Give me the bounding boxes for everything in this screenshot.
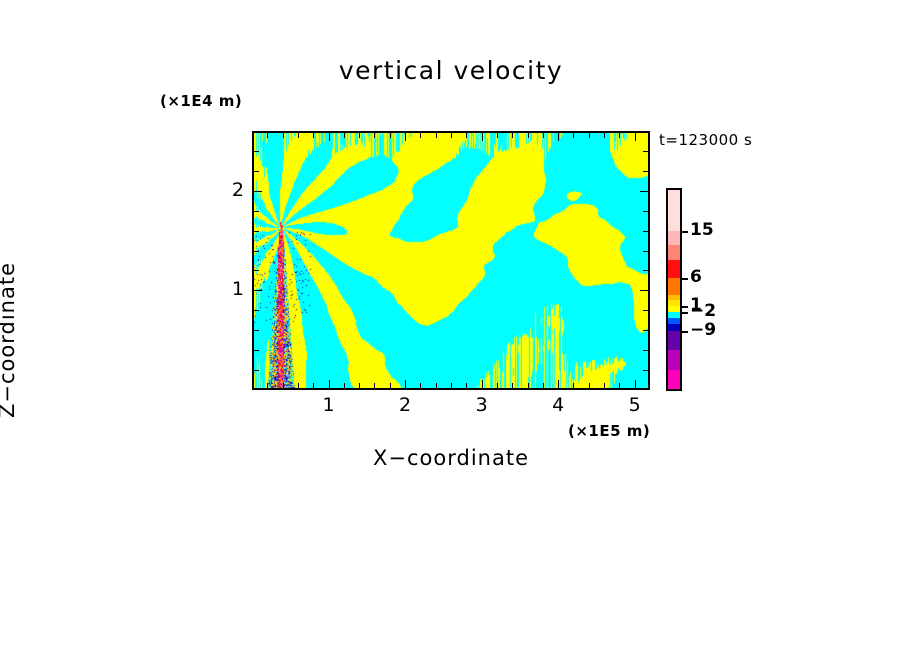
axis-tick (329, 380, 330, 388)
colorbar-band (668, 331, 680, 350)
colorbar-tick (682, 278, 688, 280)
colorbar-band (668, 260, 680, 278)
axis-tick (254, 310, 259, 311)
x-tick-label: 2 (390, 394, 420, 416)
axis-tick (643, 151, 648, 152)
axis-tick (643, 211, 648, 212)
axis-tick (543, 133, 544, 138)
colorbar-scale (666, 188, 682, 391)
x-axis-unit-label: (×1E5 m) (568, 422, 650, 440)
colorbar-tick (682, 312, 688, 314)
axis-tick (635, 380, 636, 388)
axis-tick (267, 383, 268, 388)
axis-tick (254, 211, 259, 212)
axis-tick (604, 133, 605, 138)
axis-tick (344, 383, 345, 388)
axis-tick (482, 380, 483, 388)
axis-tick (254, 251, 259, 252)
axis-tick (313, 133, 314, 138)
colorbar-band (668, 190, 680, 231)
y-tick-label: 2 (222, 179, 244, 201)
axis-tick (451, 383, 452, 388)
axis-tick (466, 383, 467, 388)
y-tick-label: 1 (222, 278, 244, 300)
x-axis-title: X−coordinate (252, 446, 650, 470)
axis-tick (528, 133, 529, 138)
axis-tick (573, 383, 574, 388)
colorbar-tick (682, 331, 688, 333)
axis-tick (254, 151, 259, 152)
axis-tick (528, 383, 529, 388)
axis-tick (643, 310, 648, 311)
vertical-velocity-field (254, 133, 650, 390)
axis-tick (254, 270, 259, 271)
axis-tick (640, 191, 648, 192)
axis-tick (619, 383, 620, 388)
axis-tick (558, 380, 559, 388)
colorbar-tick (682, 306, 688, 308)
colorbar-band (668, 231, 680, 245)
contour-plot-area (252, 131, 650, 390)
axis-tick (635, 133, 636, 141)
axis-tick (254, 191, 262, 192)
axis-tick (558, 133, 559, 141)
axis-tick (619, 133, 620, 138)
colorbar-tick-label: −2 (690, 301, 716, 321)
axis-tick (543, 383, 544, 388)
axis-tick (604, 383, 605, 388)
axis-tick (405, 380, 406, 388)
axis-tick (313, 383, 314, 388)
axis-tick (329, 133, 330, 141)
axis-tick (254, 330, 259, 331)
axis-tick (420, 383, 421, 388)
y-axis-unit-label: (×1E4 m) (160, 92, 242, 110)
axis-tick (254, 350, 259, 351)
axis-tick (451, 133, 452, 138)
colorbar-band (668, 350, 680, 369)
axis-tick (254, 370, 259, 371)
axis-tick (267, 133, 268, 138)
axis-tick (482, 133, 483, 141)
axis-tick (497, 133, 498, 138)
axis-tick (254, 290, 262, 291)
axis-tick (359, 133, 360, 138)
axis-tick (643, 251, 648, 252)
axis-tick (643, 270, 648, 271)
axis-tick (436, 133, 437, 138)
time-annotation: t=123000 s (659, 131, 752, 149)
colorbar-tick-label: −9 (690, 320, 716, 340)
axis-tick (640, 290, 648, 291)
axis-tick (589, 383, 590, 388)
axis-tick (420, 133, 421, 138)
axis-tick (643, 350, 648, 351)
axis-tick (390, 133, 391, 138)
axis-tick (254, 171, 259, 172)
axis-tick (283, 383, 284, 388)
axis-tick (512, 133, 513, 138)
axis-tick (643, 231, 648, 232)
axis-tick (405, 133, 406, 141)
axis-tick (359, 383, 360, 388)
axis-tick (643, 330, 648, 331)
axis-tick (589, 133, 590, 138)
axis-tick (643, 370, 648, 371)
axis-tick (466, 133, 467, 138)
x-tick-label: 4 (543, 394, 573, 416)
axis-tick (374, 133, 375, 138)
axis-tick (512, 383, 513, 388)
figure-canvas: vertical velocity (×1E4 m) (×1E5 m) t=12… (0, 0, 904, 654)
axis-tick (344, 133, 345, 138)
axis-tick (254, 231, 259, 232)
axis-tick (436, 383, 437, 388)
axis-tick (497, 383, 498, 388)
colorbar-band (668, 324, 680, 331)
x-tick-label: 1 (314, 394, 344, 416)
axis-tick (298, 133, 299, 138)
axis-tick (283, 133, 284, 138)
axis-tick (573, 133, 574, 138)
axis-tick (374, 383, 375, 388)
y-axis-title: Z−coordinate (0, 190, 19, 490)
colorbar-tick-label: 6 (690, 267, 702, 287)
colorbar-band (668, 370, 680, 389)
colorbar-tick (682, 231, 688, 233)
colorbar-band (668, 245, 680, 259)
x-tick-label: 5 (620, 394, 650, 416)
colorbar-band (668, 278, 680, 295)
axis-tick (298, 383, 299, 388)
x-tick-label: 3 (467, 394, 497, 416)
axis-tick (643, 171, 648, 172)
page-title: vertical velocity (252, 56, 650, 85)
colorbar-tick-label: 15 (690, 220, 714, 240)
axis-tick (390, 383, 391, 388)
